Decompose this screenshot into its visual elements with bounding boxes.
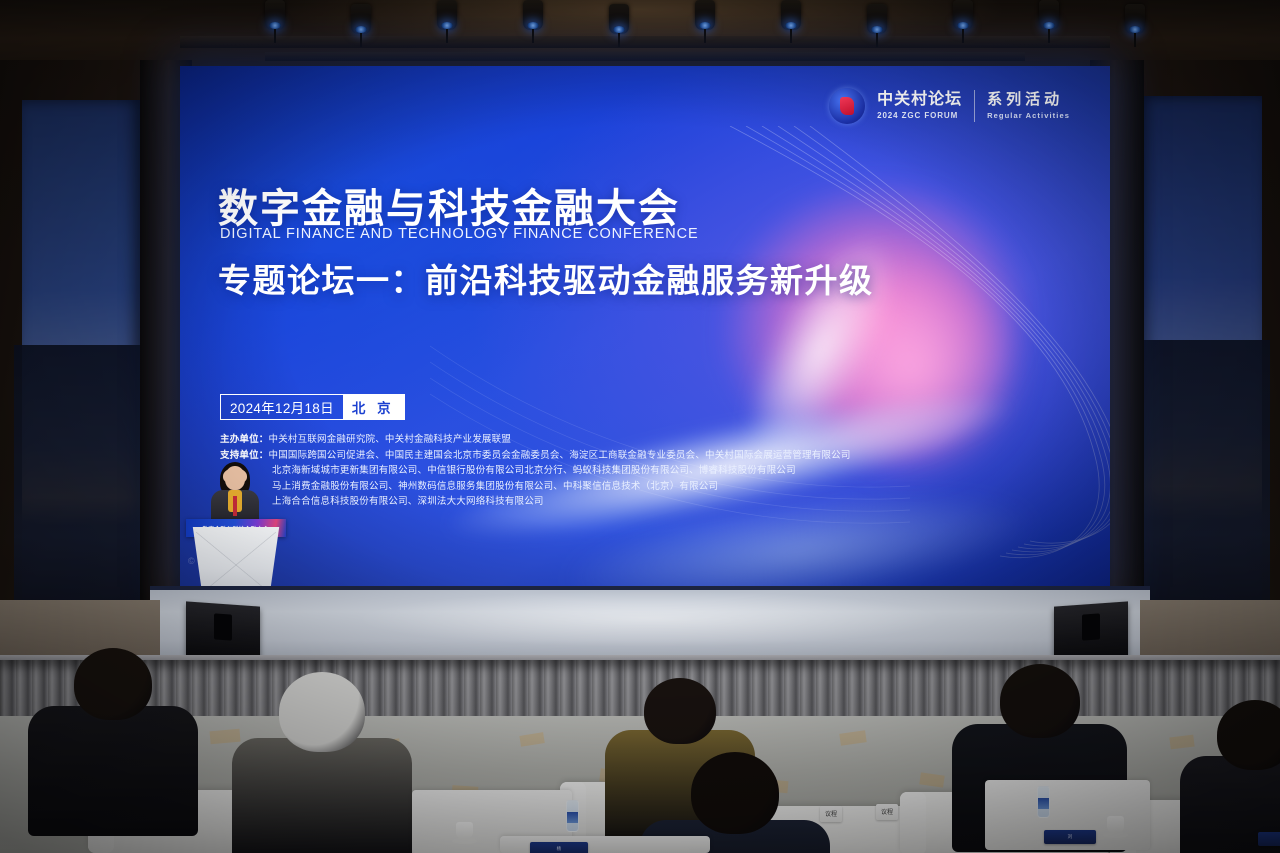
stage-light-lens bbox=[527, 22, 539, 29]
organizer-names: 上海合合信息科技股份有限公司、深圳法大大网络科技有限公司 bbox=[272, 496, 544, 507]
conference-title-en: DIGITAL FINANCE AND TECHNOLOGY FINANCE C… bbox=[220, 226, 699, 242]
organizer-list: 主办单位：中关村互联网金融研究院、中关村金融科技产业发展联盟支持单位：中国国际跨… bbox=[220, 432, 1020, 510]
lighting-truss-secondary bbox=[265, 52, 1025, 61]
stage-light bbox=[950, 0, 976, 44]
stage-light-yoke bbox=[1134, 33, 1136, 47]
stage-light-lens bbox=[613, 26, 625, 33]
stage-light bbox=[262, 0, 288, 44]
stage-light-lens bbox=[699, 22, 711, 29]
stage-light bbox=[692, 0, 718, 44]
stage-light bbox=[348, 4, 374, 48]
stage-light-yoke bbox=[274, 29, 276, 43]
forum-sub-cn: 系列活动 bbox=[987, 92, 1070, 108]
stage-floor bbox=[150, 590, 1150, 662]
organizer-names: 北京海新域城市更新集团有限公司、中信银行股份有限公司北京分行、蚂蚁科技集团股份有… bbox=[272, 465, 796, 476]
audience-member-head bbox=[644, 678, 716, 744]
name-card-text: 杨 bbox=[530, 846, 588, 852]
stage-light-lens bbox=[957, 22, 969, 29]
audience-member-head bbox=[1217, 700, 1280, 770]
date-location-badge: 2024年12月18日 北 京 bbox=[220, 394, 405, 420]
table-tent-card-text: 议程 bbox=[876, 807, 898, 816]
flame-glyph bbox=[840, 97, 854, 115]
led-wall-background: 中关村论坛 2024 ZGC FORUM 系列活动 Regular Activi… bbox=[180, 66, 1110, 590]
organizer-line: 主办单位：中关村互联网金融研究院、中关村金融科技产业发展联盟 bbox=[220, 432, 1020, 448]
stage-light-yoke bbox=[446, 29, 448, 43]
name-card-text: 刘 bbox=[1044, 834, 1096, 840]
forum-logo-text: 中关村论坛 2024 ZGC FORUM bbox=[877, 92, 962, 120]
zgc-forum-icon bbox=[829, 88, 865, 124]
name-card: 杨 bbox=[530, 842, 588, 853]
water-bottle bbox=[566, 800, 579, 832]
stage-light-yoke bbox=[1048, 29, 1050, 43]
organizer-names: 中国国际跨国公司促进会、中国民主建国会北京市委员会金融委员会、海淀区工商联金融专… bbox=[269, 450, 851, 461]
led-vignette bbox=[180, 66, 1110, 590]
organizer-label: 主办单位： bbox=[220, 434, 269, 445]
organizer-names: 马上消费金融股份有限公司、神州数码信息服务集团股份有限公司、中科聚信信息技术（北… bbox=[272, 481, 718, 492]
event-city: 北 京 bbox=[343, 395, 404, 419]
audience-member bbox=[232, 672, 412, 853]
stage-light-lens bbox=[785, 22, 797, 29]
forum-brand-cn: 中关村论坛 bbox=[877, 92, 962, 109]
stage-light-yoke bbox=[876, 33, 878, 47]
tea-cup bbox=[456, 822, 473, 839]
speaker-lanyard bbox=[233, 496, 237, 516]
forum-sub-en: Regular Activities bbox=[987, 111, 1070, 120]
forum-logo-subtext: 系列活动 Regular Activities bbox=[987, 92, 1070, 120]
organizer-names: 中关村互联网金融研究院、中关村金融科技产业发展联盟 bbox=[269, 434, 512, 445]
speaker-person bbox=[200, 462, 270, 524]
stage-light bbox=[1122, 4, 1148, 48]
stage-light bbox=[778, 0, 804, 44]
organizer-label: 支持单位： bbox=[220, 450, 269, 461]
organizer-line: 北京海新域城市更新集团有限公司、中信银行股份有限公司北京分行、蚂蚁科技集团股份有… bbox=[220, 463, 1020, 479]
stage-monitor-right bbox=[1054, 601, 1128, 660]
audience-member-torso bbox=[232, 738, 412, 853]
stage-light bbox=[1036, 0, 1062, 44]
organizer-line: 支持单位：中国国际跨国公司促进会、中国民主建国会北京市委员会金融委员会、海淀区工… bbox=[220, 448, 1020, 464]
name-card: 刘 bbox=[1044, 830, 1096, 844]
audience-member-head bbox=[74, 648, 152, 720]
monitor-grille bbox=[214, 613, 232, 640]
organizer-line: 上海合合信息科技股份有限公司、深圳法大大网络科技有限公司 bbox=[220, 494, 1020, 510]
stage-light-lens bbox=[1129, 26, 1141, 33]
water-bottle bbox=[1037, 786, 1050, 818]
audience-member-torso bbox=[28, 706, 198, 836]
audience-member-head bbox=[691, 752, 779, 834]
organizer-line: 马上消费金融股份有限公司、神州数码信息服务集团股份有限公司、中科聚信信息技术（北… bbox=[220, 479, 1020, 495]
table-tent-card-text: 议程 bbox=[820, 809, 842, 818]
logo-divider bbox=[974, 90, 975, 122]
stage-light-yoke bbox=[704, 29, 706, 43]
stage-light-yoke bbox=[360, 33, 362, 47]
stage-light-yoke bbox=[790, 29, 792, 43]
table-tent-card: 议程 bbox=[820, 806, 842, 822]
speaker-fringe bbox=[223, 468, 247, 484]
monitor-grille bbox=[1082, 613, 1100, 640]
table-tent-card: 议程 bbox=[876, 804, 898, 820]
name-card-text: 李 bbox=[1258, 836, 1280, 842]
stage-light-yoke bbox=[532, 29, 534, 43]
audience-member bbox=[1180, 700, 1280, 853]
stage-light-lens bbox=[1043, 22, 1055, 29]
stage-light bbox=[606, 4, 632, 48]
stage-light bbox=[864, 4, 890, 48]
event-date: 2024年12月18日 bbox=[221, 395, 343, 419]
audience-member bbox=[28, 648, 198, 850]
stage-light-lens bbox=[441, 22, 453, 29]
name-card: 李 bbox=[1258, 832, 1280, 846]
forum-session-title: 专题论坛一：前沿科技驱动金融服务新升级 bbox=[218, 254, 874, 302]
stage-light bbox=[520, 0, 546, 44]
stage-light-yoke bbox=[962, 29, 964, 43]
stage-light bbox=[434, 0, 460, 44]
audience-member-head bbox=[279, 672, 365, 752]
conference-stage-photo: 中关村论坛 2024 ZGC FORUM 系列活动 Regular Activi… bbox=[0, 0, 1280, 853]
stage-light-lens bbox=[269, 22, 281, 29]
forum-logo: 中关村论坛 2024 ZGC FORUM 系列活动 Regular Activi… bbox=[829, 88, 1070, 124]
forum-brand-en: 2024 ZGC FORUM bbox=[877, 111, 962, 120]
stage-light-yoke bbox=[618, 33, 620, 47]
led-wall: 中关村论坛 2024 ZGC FORUM 系列活动 Regular Activi… bbox=[180, 66, 1110, 590]
sofa-arm bbox=[900, 792, 926, 853]
audience-member-head bbox=[1000, 664, 1080, 738]
stage-light-lens bbox=[871, 26, 883, 33]
stage-light-lens bbox=[355, 26, 367, 33]
tea-cup bbox=[1107, 816, 1124, 833]
